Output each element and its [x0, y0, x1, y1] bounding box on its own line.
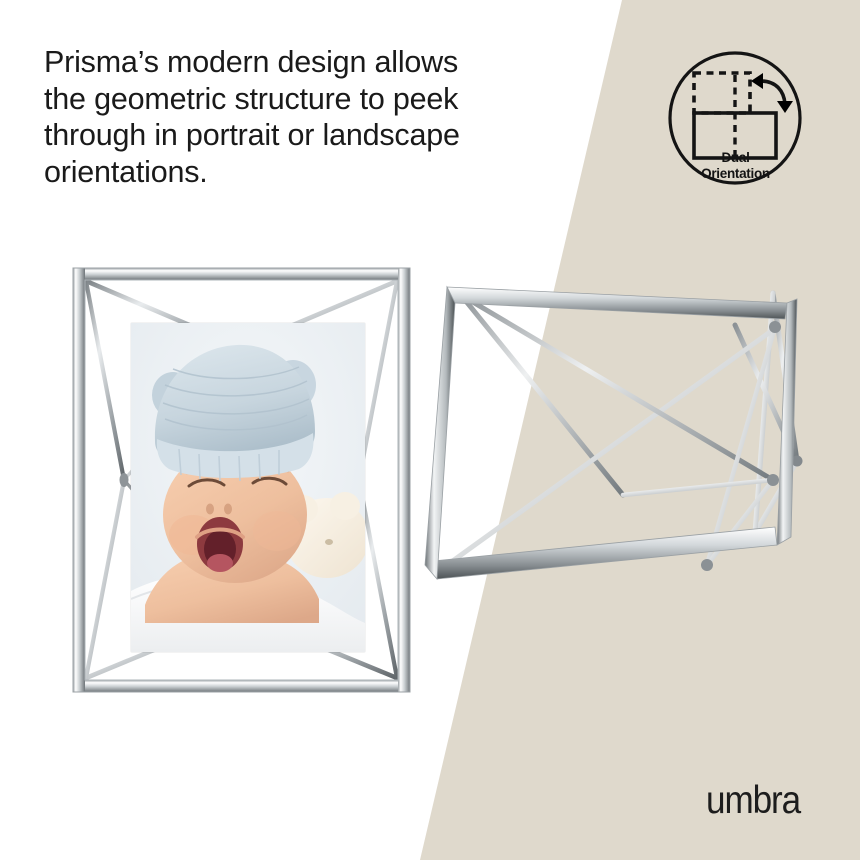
strut-left-lower [86, 480, 124, 678]
border-left [73, 268, 85, 692]
frame-outer-profile [425, 287, 797, 579]
umbra-logo: umbra [706, 781, 800, 820]
headline-text: Prisma’s modern design allows the geomet… [44, 44, 514, 190]
dashed-portrait-rect [694, 73, 750, 113]
rotation-arrow-head-right [777, 101, 793, 113]
cheek-right [253, 511, 301, 551]
profile-left [425, 287, 455, 579]
joint-lower-mid [701, 559, 713, 571]
rotation-arrow [761, 81, 785, 104]
joint-right-mid [767, 474, 779, 486]
badge-label: Dual Orientation [668, 150, 803, 181]
profile-bottom [433, 527, 777, 579]
border-top [73, 268, 410, 280]
joint-left [120, 473, 129, 487]
strut-left-upper [86, 281, 124, 480]
strut-tl-center [461, 295, 623, 495]
strut-bl-center [447, 327, 777, 565]
interior-struts [447, 295, 777, 565]
baby-photo [131, 323, 365, 652]
strut-node-b [623, 480, 773, 495]
tongue [207, 554, 233, 572]
border-right [398, 268, 410, 692]
product-marketing-image: Prisma’s modern design allows the geomet… [0, 0, 860, 860]
strut-group-left [86, 281, 124, 678]
joint-upper-mid [769, 321, 781, 333]
border-bottom [73, 680, 410, 692]
rotation-arrow-head-left [751, 73, 763, 89]
frame-landscape [425, 265, 820, 625]
strut-node-top-l [461, 295, 773, 480]
